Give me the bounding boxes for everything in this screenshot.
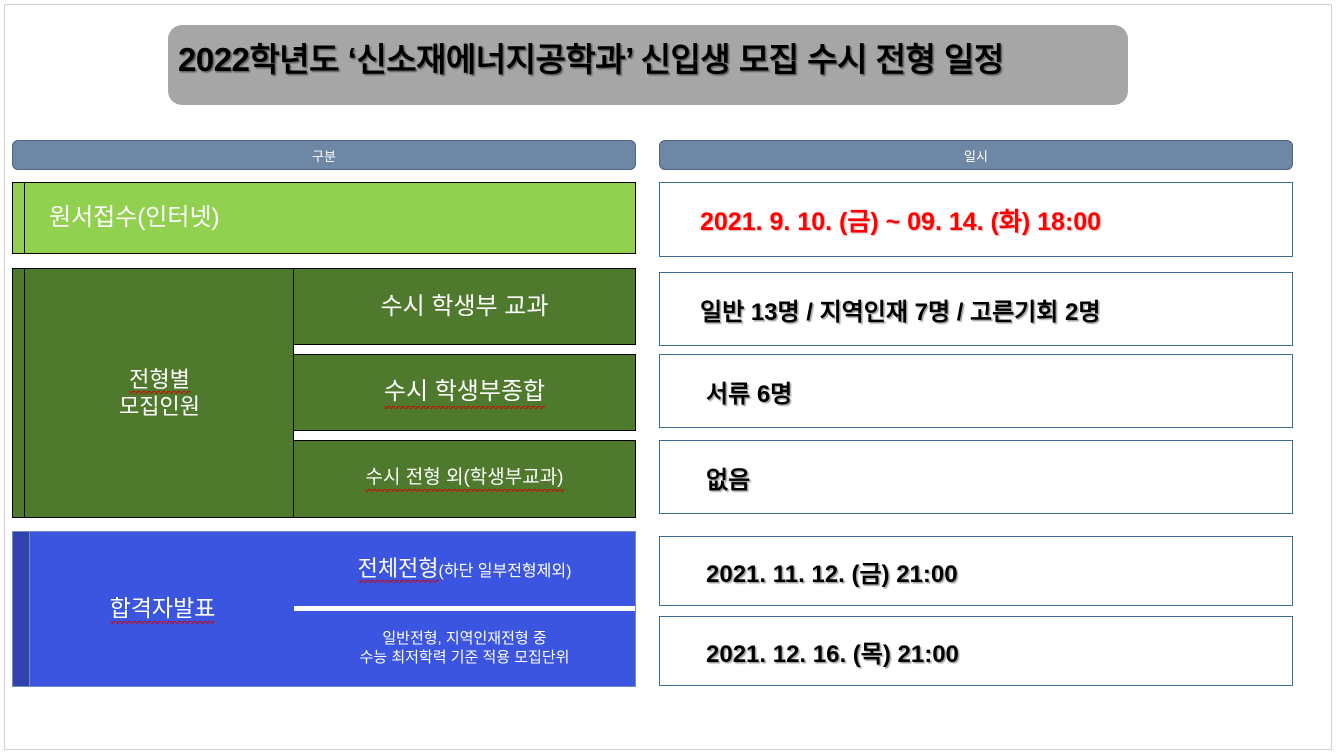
value-cell-quota-other: 없음 xyxy=(659,440,1293,514)
subrow-label-text: 전체전형(하단 일부전형제외) xyxy=(358,555,572,583)
section-result-stripe xyxy=(13,532,30,686)
section-quota-subrow-2-label: 수시 전형 외(학생부교과) xyxy=(294,441,635,517)
section-result-subrow-1-label: 일반전형, 지역인재전형 중 수능 최저학력 기준 적용 모집단위 xyxy=(294,611,635,686)
section-quota-label-text: 전형별 모집인원 xyxy=(119,366,200,421)
value-cell-quota-subject: 일반 13명 / 지역인재 7명 / 고른기회 2명 xyxy=(659,272,1293,346)
subrow-label-text: 수시 전형 외(학생부교과) xyxy=(365,466,563,492)
section-quota-label: 전형별 모집인원 xyxy=(26,269,294,517)
value-text: 서류 6명 xyxy=(706,374,792,409)
column-header-category-label: 구분 xyxy=(312,146,336,165)
section-result-subrow-0-label: 전체전형(하단 일부전형제외) xyxy=(294,532,635,606)
section-quota-stripe xyxy=(13,269,25,517)
section-quota-divider-0 xyxy=(294,344,636,355)
section-quota-divider-1 xyxy=(294,430,636,441)
section-result-label: 합격자발표 xyxy=(31,532,294,686)
section-quota-subrow-0-label: 수시 학생부 교과 xyxy=(294,269,635,344)
value-text: 2021. 9. 10. (금) ~ 09. 14. (화) 18:00 xyxy=(700,202,1101,238)
column-header-category: 구분 xyxy=(12,140,636,170)
section-quota-label-line2: 모집인원 xyxy=(119,394,200,419)
subrow-label-text: 수시 학생부종합 xyxy=(384,377,545,409)
subrow-label-line2: 수능 최저학력 기준 적용 모집단위 xyxy=(360,649,570,666)
value-text: 2021. 12. 16. (목) 21:00 xyxy=(706,634,959,669)
value-cell-result-minimum: 2021. 12. 16. (목) 21:00 xyxy=(659,616,1293,686)
column-header-datetime: 일시 xyxy=(659,140,1293,170)
value-cell-result-all: 2021. 11. 12. (금) 21:00 xyxy=(659,536,1293,606)
value-text: 2021. 11. 12. (금) 21:00 xyxy=(706,554,958,589)
section-application: 원서접수(인터넷) xyxy=(12,182,636,254)
value-cell-quota-comprehensive: 서류 6명 xyxy=(659,354,1293,428)
section-quota: 전형별 모집인원 수시 학생부 교과 수시 학생부종합 수시 전형 외(학생부교… xyxy=(12,268,636,518)
page-title: 2022학년도 ‘신소재에너지공학과’ 신입생 모집 수시 전형 일정 xyxy=(178,33,1004,81)
section-result: 합격자발표 전체전형(하단 일부전형제외) 일반전형, 지역인재전형 중 수능 … xyxy=(12,531,636,687)
section-application-label: 원서접수(인터넷) xyxy=(39,183,599,253)
section-result-label-text: 합격자발표 xyxy=(110,594,216,625)
subrow-label-text: 수시 학생부 교과 xyxy=(381,292,549,322)
value-text: 없음 xyxy=(706,460,750,495)
subrow-label-text: 일반전형, 지역인재전형 중 수능 최저학력 기준 적용 모집단위 xyxy=(360,630,570,668)
section-quota-label-line1: 전형별 xyxy=(129,367,190,394)
slide-canvas: 2022학년도 ‘신소재에너지공학과’ 신입생 모집 수시 전형 일정 구분 일… xyxy=(0,0,1336,754)
column-header-datetime-label: 일시 xyxy=(964,146,988,165)
subrow-label-main: 전체전형 xyxy=(358,556,439,583)
subrow-label-line1: 일반전형, 지역인재전형 중 xyxy=(382,630,546,647)
value-cell-application-date: 2021. 9. 10. (금) ~ 09. 14. (화) 18:00 xyxy=(659,182,1293,257)
value-text: 일반 13명 / 지역인재 7명 / 고른기회 2명 xyxy=(700,292,1100,327)
section-application-stripe xyxy=(13,183,25,253)
section-quota-subrow-1-label: 수시 학생부종합 xyxy=(294,355,635,430)
title-banner: 2022학년도 ‘신소재에너지공학과’ 신입생 모집 수시 전형 일정 xyxy=(168,25,1128,105)
subrow-label-paren: (하단 일부전형제외) xyxy=(439,563,572,580)
